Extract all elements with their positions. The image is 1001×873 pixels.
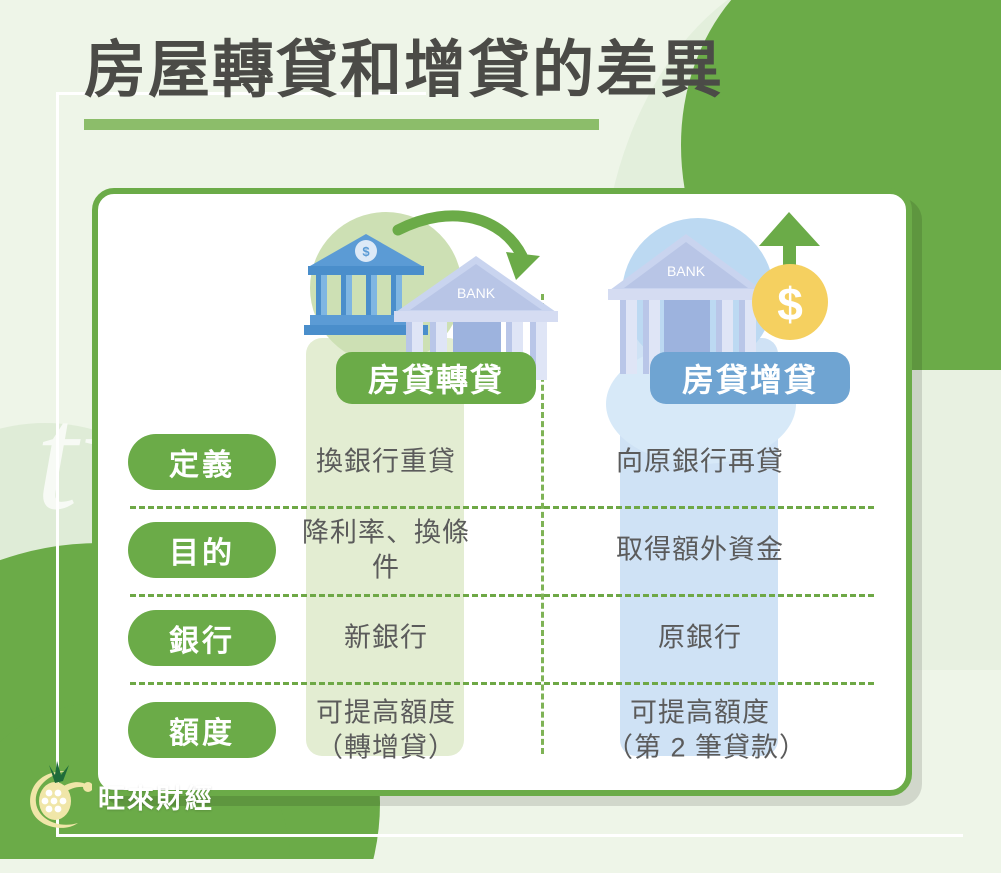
row-value-right: 原銀行 — [606, 621, 794, 656]
row-value-right: 向原銀行再貸 — [606, 445, 794, 480]
row-value-right-line1: 可提高額度 — [606, 695, 794, 730]
table-row: 目的 降利率、換條件 取得額外資金 — [98, 506, 906, 594]
row-value-left: 降利率、換條件 — [294, 515, 478, 584]
row-value-right-line2: （第 2 筆貸款） — [606, 730, 794, 765]
coin-dollar-icon: $ — [752, 264, 828, 340]
right-column-header: 房貸增貸 — [650, 352, 850, 404]
row-value-left: 新銀行 — [294, 621, 478, 656]
row-value-right: 可提高額度 （第 2 筆貸款） — [606, 695, 794, 764]
row-label-amount: 額度 — [128, 702, 276, 758]
row-label-bank: 銀行 — [128, 610, 276, 666]
row-value-left-line1: 可提高額度 — [294, 695, 478, 730]
comparison-card: $ — [92, 188, 912, 796]
brand-logo: 旺來財經 — [22, 759, 214, 833]
comparison-rows: 定義 換銀行重貸 向原銀行再貸 目的 降利率、換條件 取得額外資金 銀行 新銀行… — [98, 418, 906, 778]
svg-text:$: $ — [362, 244, 370, 259]
left-column-header: 房貸轉貸 — [336, 352, 536, 404]
row-label-definition: 定義 — [128, 434, 276, 490]
title-underline — [84, 119, 599, 130]
svg-text:$: $ — [777, 278, 803, 330]
infographic-canvas: 房屋轉貸和增貸的差異 twonline $ — [0, 0, 1001, 873]
row-value-left: 換銀行重貸 — [294, 445, 478, 480]
row-value-left-line2: （轉增貸） — [294, 730, 478, 765]
table-row: 定義 換銀行重貸 向原銀行再貸 — [98, 418, 906, 506]
svg-text:BANK: BANK — [667, 263, 706, 279]
row-value-right: 取得額外資金 — [606, 533, 794, 568]
title-block: 房屋轉貸和增貸的差異 — [84, 38, 724, 130]
row-label-purpose: 目的 — [128, 522, 276, 578]
table-row: 額度 可提高額度 （轉增貸） 可提高額度 （第 2 筆貸款） — [98, 682, 906, 778]
bottom-band — [0, 859, 1001, 873]
brand-name: 旺來財經 — [98, 777, 214, 816]
page-title: 房屋轉貸和增貸的差異 — [84, 38, 724, 103]
svg-text:BANK: BANK — [457, 285, 496, 301]
row-value-left: 可提高額度 （轉增貸） — [294, 695, 478, 764]
pineapple-crescent-icon — [22, 759, 92, 833]
table-row: 銀行 新銀行 原銀行 — [98, 594, 906, 682]
